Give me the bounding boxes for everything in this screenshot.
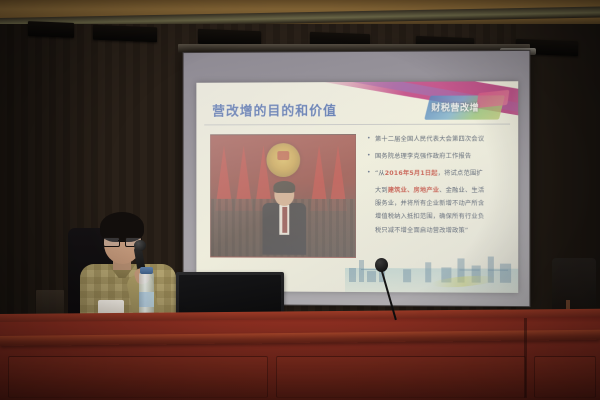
ceiling-speaker-icon (28, 21, 74, 38)
microphone-head-icon (375, 258, 388, 272)
podium-panel (8, 356, 268, 398)
conference-room-photo: 营改增的目的和价值 财税营改增 (0, 0, 600, 400)
podium-panel (276, 356, 526, 398)
presenter (78, 212, 188, 322)
national-emblem-icon (266, 143, 300, 177)
podium-seam (524, 318, 527, 398)
handheld-microphone-head-icon (134, 240, 146, 251)
slide-title: 营改增的目的和价值 (212, 100, 337, 119)
podium-panel (534, 356, 596, 398)
badge-label: 财税营改增 (431, 100, 504, 113)
building-shape (359, 260, 364, 282)
quote-line: 大到建筑业、房地产业、金融业、生活 (367, 185, 514, 197)
building-shape (425, 262, 431, 282)
laptop-screen (179, 275, 281, 315)
building-shape (403, 269, 411, 282)
quote-text: ，将试点范围扩 (438, 170, 483, 177)
list-item: “从2016年5月1日起，将试点范围扩 (367, 168, 514, 180)
quote-highlight: 建筑业、房地产业 (388, 187, 439, 194)
building-shape (349, 268, 356, 282)
quote-text: “从 (375, 170, 385, 177)
figure-hair (273, 181, 295, 193)
slide-badge: 财税营改增 (423, 89, 510, 123)
quote-line: 税只减不增全面启动营改增政策” (367, 225, 514, 238)
quote-line: 服务业，并将所有企业新增不动产所含 (367, 198, 514, 210)
crane-icon (488, 269, 508, 271)
slide-title-divider (204, 124, 510, 126)
projection-screen: 营改增的目的和价值 财税营改增 (183, 50, 531, 307)
bottle-label (139, 292, 154, 307)
building-shape (500, 264, 511, 283)
slide-skyline-graphic (345, 248, 518, 293)
figure-tie (282, 207, 287, 233)
presentation-slide: 营改增的目的和价值 财税营改增 (196, 81, 518, 293)
photo-speaker-figure (262, 183, 306, 255)
glasses-lens-left (103, 237, 120, 247)
quote-line: 增值税纳入抵扣范围，确保所有行业负 (367, 211, 514, 223)
crane-icon (459, 269, 479, 271)
building-shape (367, 271, 376, 282)
list-item: 第十二届全国人民代表大会第四次会议 (367, 134, 514, 146)
quote-highlight: 2016年5月1日起 (385, 170, 438, 177)
quote-text: 、金融业、生活 (439, 187, 484, 194)
slide-bullet-list: 第十二届全国人民代表大会第四次会议 国务院总理李克强作政府工作报告 “从2016… (367, 134, 514, 238)
ceiling-speaker-icon (93, 25, 157, 42)
slide-photo-great-hall (210, 134, 356, 258)
list-item: 国务院总理李克强作政府工作报告 (367, 151, 514, 163)
glasses-bridge (118, 240, 125, 241)
quote-text: 大到 (375, 187, 388, 194)
bottle-cap (140, 267, 153, 274)
